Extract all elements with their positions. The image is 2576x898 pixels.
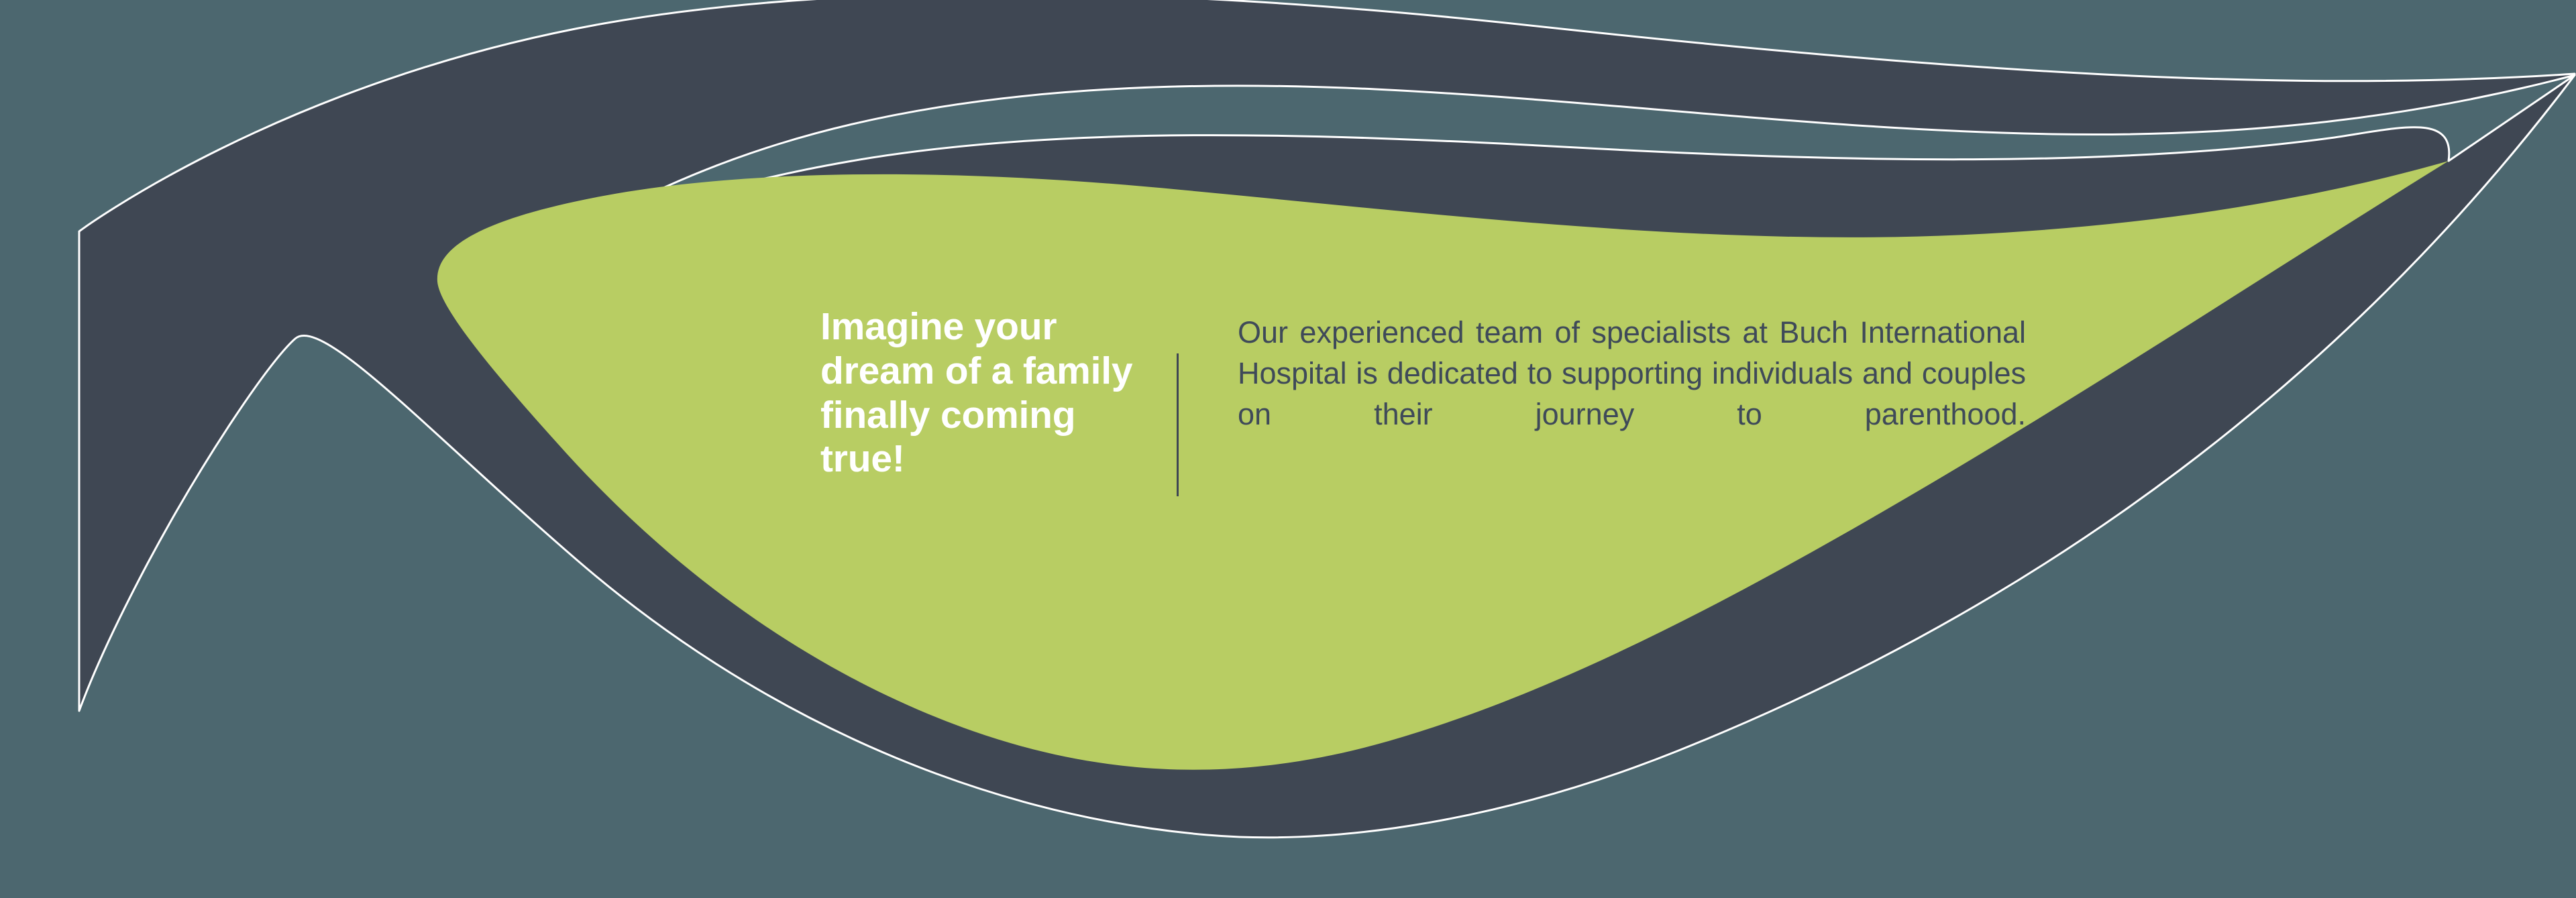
vertical-divider [1177, 353, 1179, 496]
body-copy: Our experienced team of specialists at B… [1238, 312, 2026, 476]
page-title: Imagine your dream of a family finally c… [820, 305, 1136, 482]
body-copy-container: Our experienced team of specialists at B… [1238, 305, 2026, 476]
hero-banner: Imagine your dream of a family finally c… [0, 0, 2576, 898]
banner-text-block: Imagine your dream of a family finally c… [820, 305, 2026, 496]
